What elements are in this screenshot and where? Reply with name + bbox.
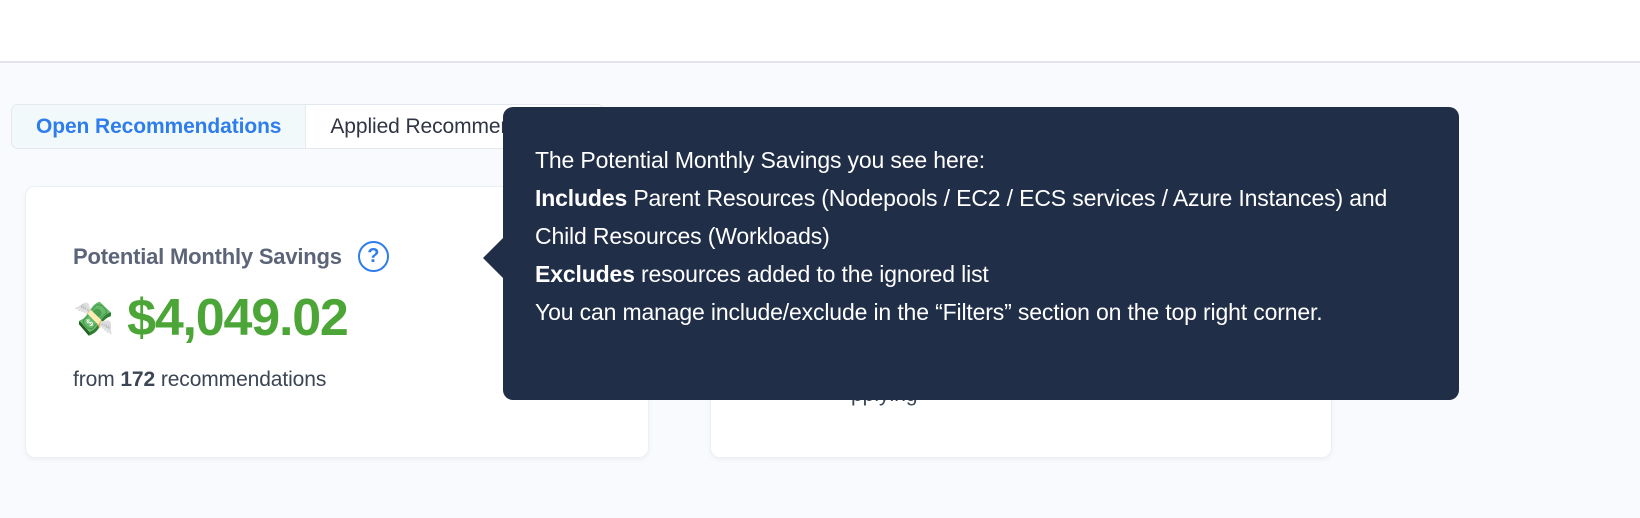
tab-open-recommendations[interactable]: Open Recommendations [12,105,306,148]
tooltip-line-3-text: resources added to the ignored list [635,261,989,287]
tooltip-arrow-icon [483,236,505,280]
savings-amount-value: $4,049.02 [127,292,348,344]
tooltip-line-1: The Potential Monthly Savings you see he… [535,141,1423,179]
page-root: Open Recommendations Applied Recommendat… [0,0,1640,518]
tooltip-line-3: Excludes resources added to the ignored … [535,255,1423,293]
recommendations-count: 172 [120,368,155,391]
tooltip-line-2: Includes Parent Resources (Nodepools / E… [535,179,1423,255]
tooltip-line-4-text: You can manage include/exclude in the “F… [535,299,1323,325]
subtext-prefix: from [73,368,120,391]
tooltip-line-2-bold: Includes [535,185,627,211]
savings-amount-row: 💸 $4,049.02 [73,292,348,344]
question-mark-icon[interactable]: ? [358,241,389,272]
tooltip-line-2-text: Parent Resources (Nodepools / EC2 / ECS … [535,185,1387,249]
savings-card-header: Potential Monthly Savings ? [73,241,389,272]
tab-open-recommendations-label: Open Recommendations [36,115,281,139]
tooltip-line-3-bold: Excludes [535,261,635,287]
tooltip-line-4: You can manage include/exclude in the “F… [535,293,1423,331]
subtext-suffix: recommendations [155,368,326,391]
page-title: Potential Monthly Savings [73,244,342,270]
header-bar [0,0,1640,61]
savings-info-tooltip: The Potential Monthly Savings you see he… [503,107,1459,400]
money-banknotes-icon: 💸 [73,302,114,335]
tooltip-line-1-text: The Potential Monthly Savings you see he… [535,147,985,173]
recommendations-count-text: from 172 recommendations [73,368,326,392]
